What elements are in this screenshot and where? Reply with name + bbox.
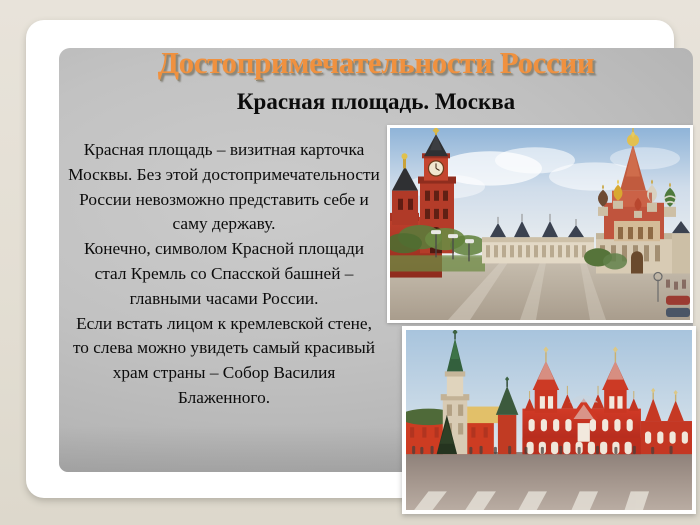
photo-state-historical-museum (402, 326, 696, 514)
photo-red-square-st-basils (387, 125, 693, 323)
body-paragraph-3: Если встать лицом к кремлевской стене, т… (68, 312, 380, 411)
body-text-block: Красная площадь – визитная карточка Моск… (68, 138, 380, 411)
slide-card: Достопримечательности России Красная пло… (26, 20, 674, 498)
photo-state-historical-museum-image (406, 330, 692, 510)
body-paragraph-2: Конечно, символом Красной площади стал К… (68, 237, 380, 311)
page-title: Достопримечательности России (26, 46, 700, 80)
slide-root: Достопримечательности России Красная пло… (0, 0, 700, 525)
slide-subtitle: Красная площадь. Москва (26, 88, 700, 115)
photo-red-square-st-basils-image (390, 128, 690, 320)
body-paragraph-1: Красная площадь – визитная карточка Моск… (68, 138, 380, 237)
